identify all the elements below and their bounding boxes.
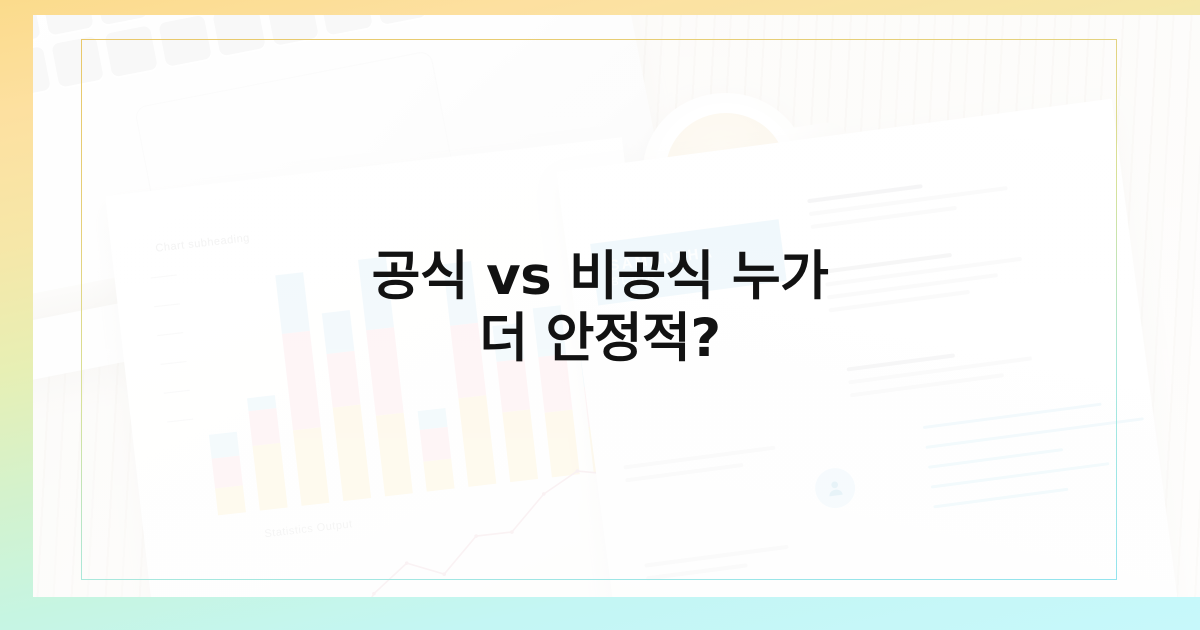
bar-segment-pink bbox=[420, 427, 451, 462]
keyboard-key bbox=[51, 36, 104, 88]
bar-segment-pink bbox=[538, 353, 572, 412]
report-text-block bbox=[824, 242, 1044, 322]
report-rule-lines bbox=[923, 397, 1154, 525]
bar-column bbox=[443, 261, 496, 487]
keyboard-key bbox=[33, 15, 40, 46]
bar-segment-cyan bbox=[358, 257, 394, 330]
user-avatar-icon bbox=[813, 466, 858, 511]
keyboard-key bbox=[105, 25, 158, 77]
bar-segment-cyan bbox=[275, 272, 310, 334]
keyboard-key bbox=[41, 15, 94, 36]
keyboard-key bbox=[266, 15, 319, 46]
bar-column bbox=[209, 432, 246, 516]
bar-segment-pink bbox=[212, 456, 243, 489]
bar-segment-yellow bbox=[215, 485, 246, 515]
report-banner: SAMANTHA BLAIR bbox=[590, 219, 786, 305]
keyboard-key bbox=[158, 15, 211, 67]
report-text-block bbox=[644, 541, 816, 589]
report-text-block bbox=[846, 340, 1059, 406]
bar-segment-pink bbox=[282, 331, 321, 431]
keyboard-key bbox=[33, 46, 50, 98]
bar-segment-cyan bbox=[533, 305, 566, 356]
bar-segment-cyan bbox=[322, 310, 354, 353]
bar-segment-cyan bbox=[492, 323, 524, 361]
bar-segment-cyan bbox=[209, 432, 240, 459]
bar-segment-pink bbox=[249, 408, 281, 446]
bar-segment-yellow bbox=[253, 443, 288, 511]
bar-segment-pink bbox=[366, 327, 404, 416]
keyboard-key bbox=[95, 15, 148, 25]
bar-segment-pink bbox=[326, 350, 360, 407]
thumbnail-card: Chart subheading Statistics Output SAMAN… bbox=[0, 0, 1200, 630]
report-text-block bbox=[807, 172, 1020, 238]
background-photo: Chart subheading Statistics Output SAMAN… bbox=[33, 15, 1200, 597]
bar-segment-cyan bbox=[443, 261, 478, 326]
bar-segment-pink bbox=[450, 323, 486, 399]
bar-segment-pink bbox=[496, 358, 530, 412]
report-right: SAMANTHA BLAIR bbox=[556, 99, 1179, 597]
report-text-block bbox=[623, 443, 795, 491]
keyboard-key bbox=[320, 15, 373, 35]
keyboard-key bbox=[212, 15, 265, 56]
keyboard-key bbox=[374, 15, 427, 25]
bar-column bbox=[247, 395, 288, 511]
